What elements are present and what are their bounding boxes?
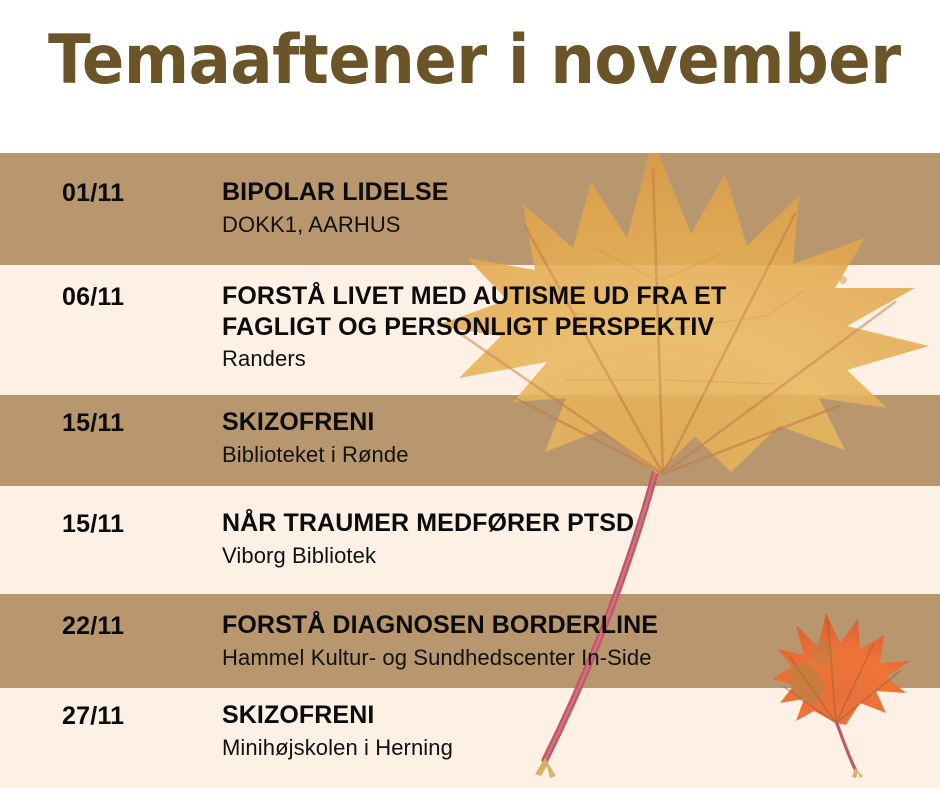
event-title: SKIZOFRENI [222,407,930,438]
event-title: NÅR TRAUMER MEDFØRER PTSD [222,508,930,539]
list-item: 15/11 NÅR TRAUMER MEDFØRER PTSD Viborg B… [0,486,940,594]
event-venue: DOKK1, AARHUS [222,211,930,239]
event-venue: Randers [222,345,930,373]
event-date: 22/11 [62,612,124,641]
event-title: BIPOLAR LIDELSE [222,177,930,208]
event-title: FORSTÅ DIAGNOSEN BORDERLINE [222,610,930,641]
event-body: FORSTÅ LIVET MED AUTISME UD FRA ET FAGLI… [222,281,930,373]
event-title: SKIZOFRENI [222,700,930,731]
list-item: 01/11 BIPOLAR LIDELSE DOKK1, AARHUS [0,153,940,265]
event-venue: Biblioteket i Rønde [222,441,930,469]
event-body: SKIZOFRENI Minihøjskolen i Herning [222,700,930,761]
title-area: Temaaftener i november [0,0,940,153]
list-item: 15/11 SKIZOFRENI Biblioteket i Rønde [0,395,940,486]
list-item: 27/11 SKIZOFRENI Minihøjskolen i Herning [0,688,940,788]
event-body: BIPOLAR LIDELSE DOKK1, AARHUS [222,177,930,238]
event-body: FORSTÅ DIAGNOSEN BORDERLINE Hammel Kultu… [222,610,930,671]
event-venue: Viborg Bibliotek [222,542,930,570]
event-date: 06/11 [62,283,124,312]
event-body: NÅR TRAUMER MEDFØRER PTSD Viborg Bibliot… [222,508,930,569]
event-title: FORSTÅ LIVET MED AUTISME UD FRA ET FAGLI… [222,281,930,342]
event-date: 01/11 [62,179,124,208]
poster-canvas: Temaaftener i november 01/11 BIPOLAR LID… [0,0,940,788]
event-date: 15/11 [62,409,124,438]
page-title: Temaaftener i november [48,22,901,100]
event-venue: Hammel Kultur- og Sundhedscenter In-Side [222,644,930,672]
event-venue: Minihøjskolen i Herning [222,734,930,762]
event-body: SKIZOFRENI Biblioteket i Rønde [222,407,930,468]
event-date: 15/11 [62,510,124,539]
event-date: 27/11 [62,702,124,731]
list-item: 22/11 FORSTÅ DIAGNOSEN BORDERLINE Hammel… [0,594,940,688]
list-item: 06/11 FORSTÅ LIVET MED AUTISME UD FRA ET… [0,265,940,395]
